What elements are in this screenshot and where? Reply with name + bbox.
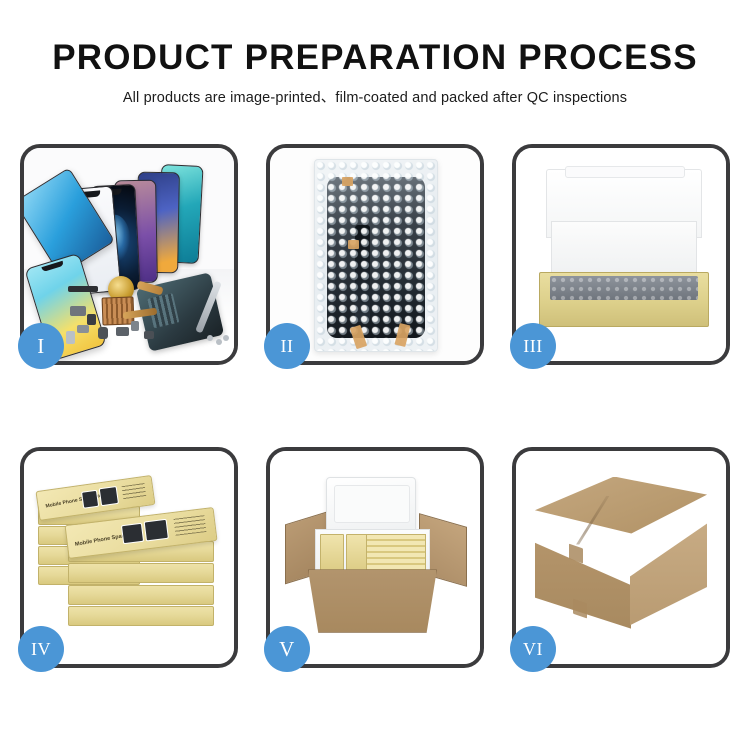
process-step-panel-3: III [512,144,730,365]
process-steps-grid: I II [20,144,730,678]
component-part [116,327,129,336]
component-part [144,331,154,339]
box-lid-phone-image [98,486,118,506]
stacked-boxes: Mobile Phone Spare Parts Mobile Phone Sp… [37,477,222,643]
page-subtitle: All products are image-printed、film-coat… [0,86,750,107]
carton-top-face [535,477,707,542]
step-badge-5: V [264,626,310,672]
stacked-box-layer [68,585,214,605]
open-shipping-carton [287,472,463,642]
step-badge-2: II [264,323,310,369]
screw-part [216,339,222,345]
carton-right-face [630,512,707,625]
component-part [98,327,108,339]
box-lid-phone-image [121,524,144,545]
carton-front-panel [308,569,437,632]
step-badge-4: IV [18,626,64,672]
tape-strip [348,240,359,249]
process-step-panel-5: V [266,447,484,668]
process-step-panel-2: II [266,144,484,365]
component-part [131,321,139,331]
box-lid-phone-image [80,490,99,509]
bubble-texture [315,160,437,352]
bubble-wrap-bag [314,159,438,353]
process-step-panel-6: VI [512,447,730,668]
step-badge-6: VI [510,626,556,672]
box-lid-text-lines [121,483,146,500]
open-inner-box [539,169,707,324]
component-part [87,314,96,325]
screws-group [207,335,229,345]
box-lid-phone-image [144,519,169,542]
stacked-box-layer [68,606,214,626]
tape-patch [573,599,587,618]
bubble-wrapped-contents [550,276,698,300]
yellow-box [320,534,344,571]
screw-part [207,335,213,341]
step-badge-1: I [18,323,64,369]
component-part [77,325,89,333]
component-part [66,331,75,344]
tape-strip [342,177,353,186]
page-title: PRODUCT PREPARATION PROCESS [0,40,750,77]
product-preparation-infographic: PRODUCT PREPARATION PROCESS All products… [0,0,750,750]
header: PRODUCT PREPARATION PROCESS All products… [0,40,750,107]
sealed-shipping-carton [535,477,707,639]
component-part [70,306,86,316]
process-step-panel-4: Mobile Phone Spare Parts Mobile Phone Sp… [20,447,238,668]
stacked-box-layer [68,563,214,583]
yellow-box-tray [539,272,709,327]
step-badge-3: III [510,323,556,369]
process-step-panel-1: I [20,144,238,365]
yellow-boxes-horizontal [366,534,426,573]
box-lid-text-lines [174,516,207,536]
screw-part [223,335,229,341]
